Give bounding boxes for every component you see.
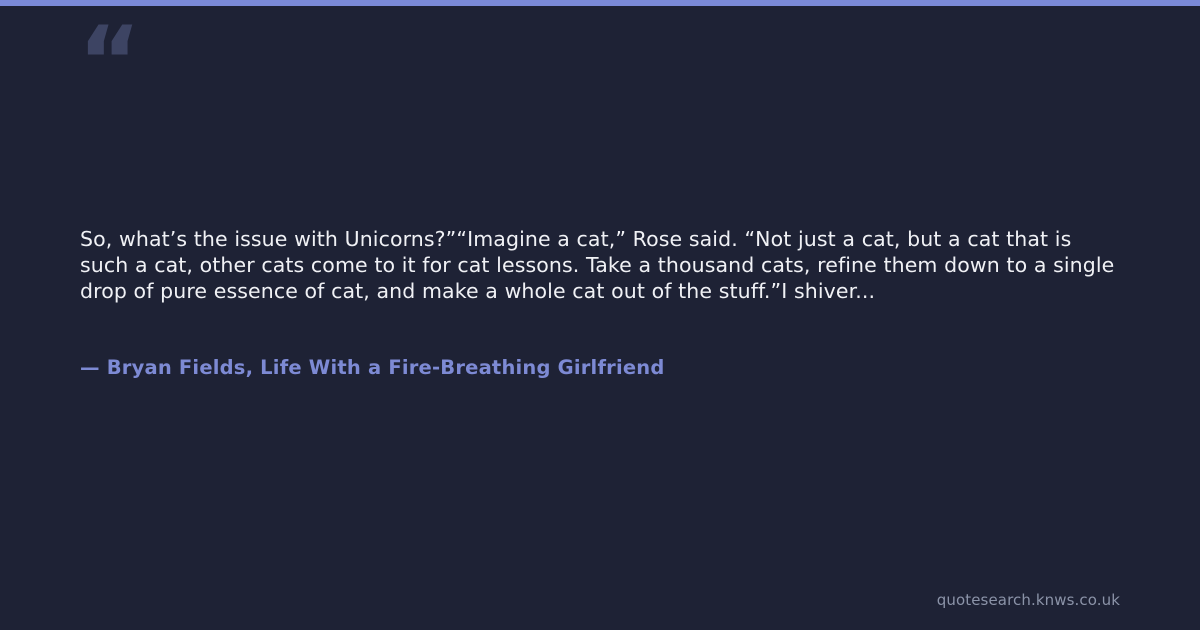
quote-attribution: — Bryan Fields, Life With a Fire-Breathi… bbox=[80, 355, 665, 381]
quote-text: So, what’s the issue with Unicorns?”“Ima… bbox=[80, 226, 1120, 304]
site-url-footer: quotesearch.knws.co.uk bbox=[937, 590, 1120, 610]
top-accent-bar bbox=[0, 0, 1200, 6]
quote-card: “ So, what’s the issue with Unicorns?”“I… bbox=[0, 0, 1200, 630]
open-quote-icon: “ bbox=[78, 14, 139, 110]
